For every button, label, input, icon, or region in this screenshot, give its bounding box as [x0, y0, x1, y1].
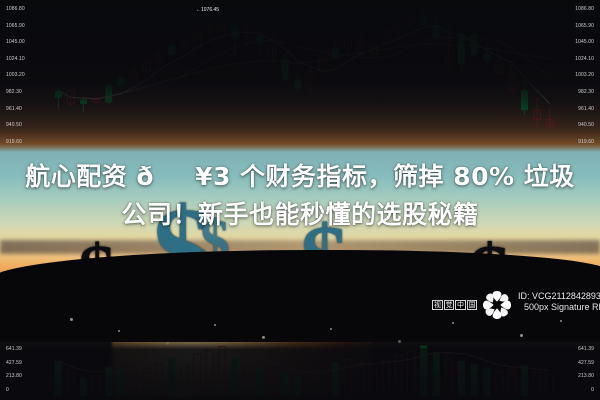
axis-tick-label: 427.59: [578, 360, 594, 366]
axis-tick-label: 1024.10: [6, 56, 25, 62]
axis-tick-label: 427.59: [6, 360, 22, 366]
axis-tick-label: 1086.80: [575, 6, 594, 12]
price-chart: ←1076.45 1086.801065.901045.001024.10100…: [0, 0, 600, 152]
chart-backdrop: [0, 0, 600, 152]
axis-tick-label: 0: [6, 387, 9, 393]
watermark-brand-cn: 视觉中国: [432, 300, 478, 310]
sunburst-logo-icon: [480, 288, 514, 322]
headline: 航心配资 ð¥3 个财务指标，筛掉 80% 垃圾 公司！新手也能秒懂的选股秘…: [0, 158, 600, 234]
axis-tick-label: 1086.80: [6, 6, 25, 12]
axis-tick-label: 641.39: [578, 346, 594, 352]
volume-backdrop: [0, 338, 600, 400]
axis-tick-label: 961.40: [578, 106, 594, 112]
axis-tick-label: 641.39: [6, 346, 22, 352]
watermark-id: ID: VCG211284289394: [518, 291, 600, 301]
axis-tick-label: 940.50: [578, 122, 594, 128]
axis-tick-label: 1045.00: [6, 39, 25, 45]
axis-tick-label: 1045.00: [575, 39, 594, 45]
axis-tick-label: 982.30: [578, 89, 594, 95]
axis-tick-label: 961.40: [6, 106, 22, 112]
headline-line-1: 航心配资 ð¥3 个财务指标，筛掉 80% 垃圾: [10, 158, 590, 196]
axis-tick-label: 1065.90: [575, 23, 594, 29]
headline-line-2: 公司！新手也能秒懂的选股秘籍: [10, 196, 590, 234]
axis-tick-label: 919.60: [578, 139, 594, 145]
axis-tick-label: 1065.90: [6, 23, 25, 29]
axis-tick-label: 1003.20: [6, 72, 25, 78]
axis-tick-label: 940.50: [6, 122, 22, 128]
volume-chart: 641.39427.59213.800 641.39427.59213.800: [0, 338, 600, 400]
watermark: 视觉中国 ID: VCG211284289394 500px Signature…: [432, 288, 600, 328]
axis-tick-label: 213.80: [578, 373, 594, 379]
axis-tick-label: 1003.20: [575, 72, 594, 78]
price-annotation: ←1076.45: [196, 7, 219, 13]
axis-tick-label: 1024.10: [575, 56, 594, 62]
watermark-license: 500px Signature RF: [524, 302, 600, 312]
axis-tick-label: 919.60: [6, 139, 22, 145]
axis-tick-label: 213.80: [6, 373, 22, 379]
screenshot-stage: $ $ $ $ $ $ $ $ $ $ ←1076.45 1086.801065…: [0, 0, 600, 400]
axis-tick-label: 982.30: [6, 89, 22, 95]
axis-tick-label: 0: [591, 387, 594, 393]
